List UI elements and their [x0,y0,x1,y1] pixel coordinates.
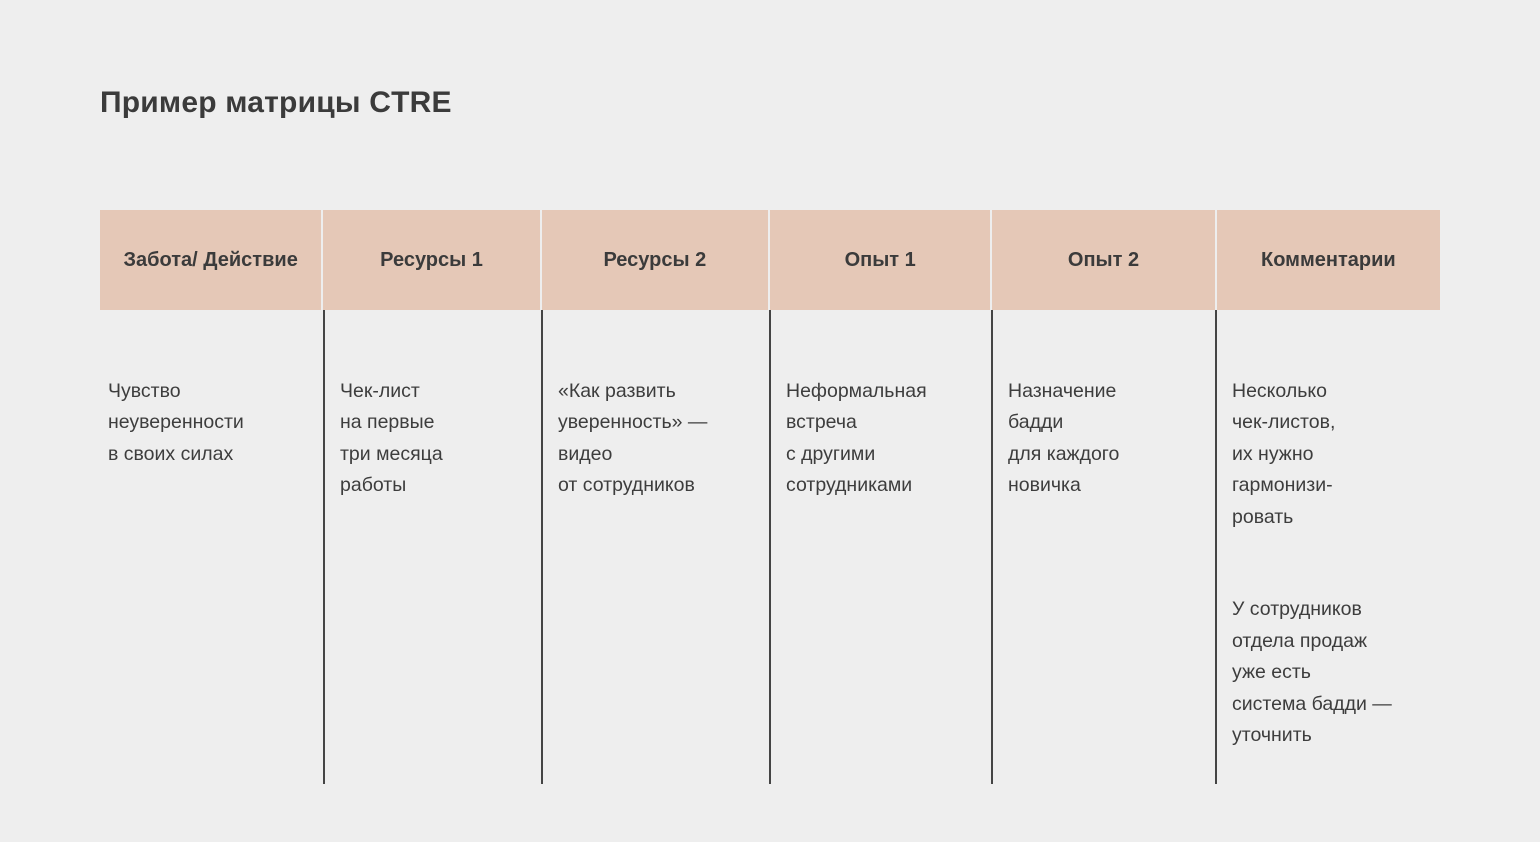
cell-experience-2: Назначение бадди для каждого новичка [991,310,1215,784]
cell-resources-1: Чек-лист на первые три месяца работы [323,310,541,784]
cell-paragraph: Несколько чек-листов, их нужно гармонизи… [1232,376,1430,534]
cell-paragraph: Назначение бадди для каждого новичка [1008,376,1205,502]
cell-experience-1: Неформальная встреча с другими сотрудник… [769,310,991,784]
cell-paragraph: У сотрудников отдела продаж уже есть сис… [1232,594,1430,752]
ctre-matrix-table: Забота/ Действие Ресурсы 1 Ресурсы 2 Опы… [100,210,1440,784]
table-row: Чувство неуверенности в своих силах Чек-… [100,310,1440,784]
table-header-row: Забота/ Действие Ресурсы 1 Ресурсы 2 Опы… [100,210,1440,310]
cell-paragraph: Неформальная встреча с другими сотрудник… [786,376,981,502]
cell-resources-2: «Как развить уверенность» — видео от сот… [541,310,769,784]
page-title: Пример матрицы CTRE [100,86,452,120]
cell-paragraph: Чек-лист на первые три месяца работы [340,376,531,502]
matrix-page: Пример матрицы CTRE Забота/ Действие Рес… [0,0,1540,842]
column-header-experience-2: Опыт 2 [992,210,1214,310]
cell-care-action: Чувство неуверенности в своих силах [100,310,323,784]
column-header-experience-1: Опыт 1 [770,210,990,310]
column-header-care-action: Забота/ Действие [100,210,321,310]
cell-comments: Несколько чек-листов, их нужно гармонизи… [1215,310,1440,784]
column-header-resources-2: Ресурсы 2 [542,210,768,310]
cell-paragraph: «Как развить уверенность» — видео от сот… [558,376,759,502]
cell-paragraph: Чувство неуверенности в своих силах [108,376,313,471]
column-header-resources-1: Ресурсы 1 [323,210,539,310]
column-header-comments: Комментарии [1217,210,1440,310]
